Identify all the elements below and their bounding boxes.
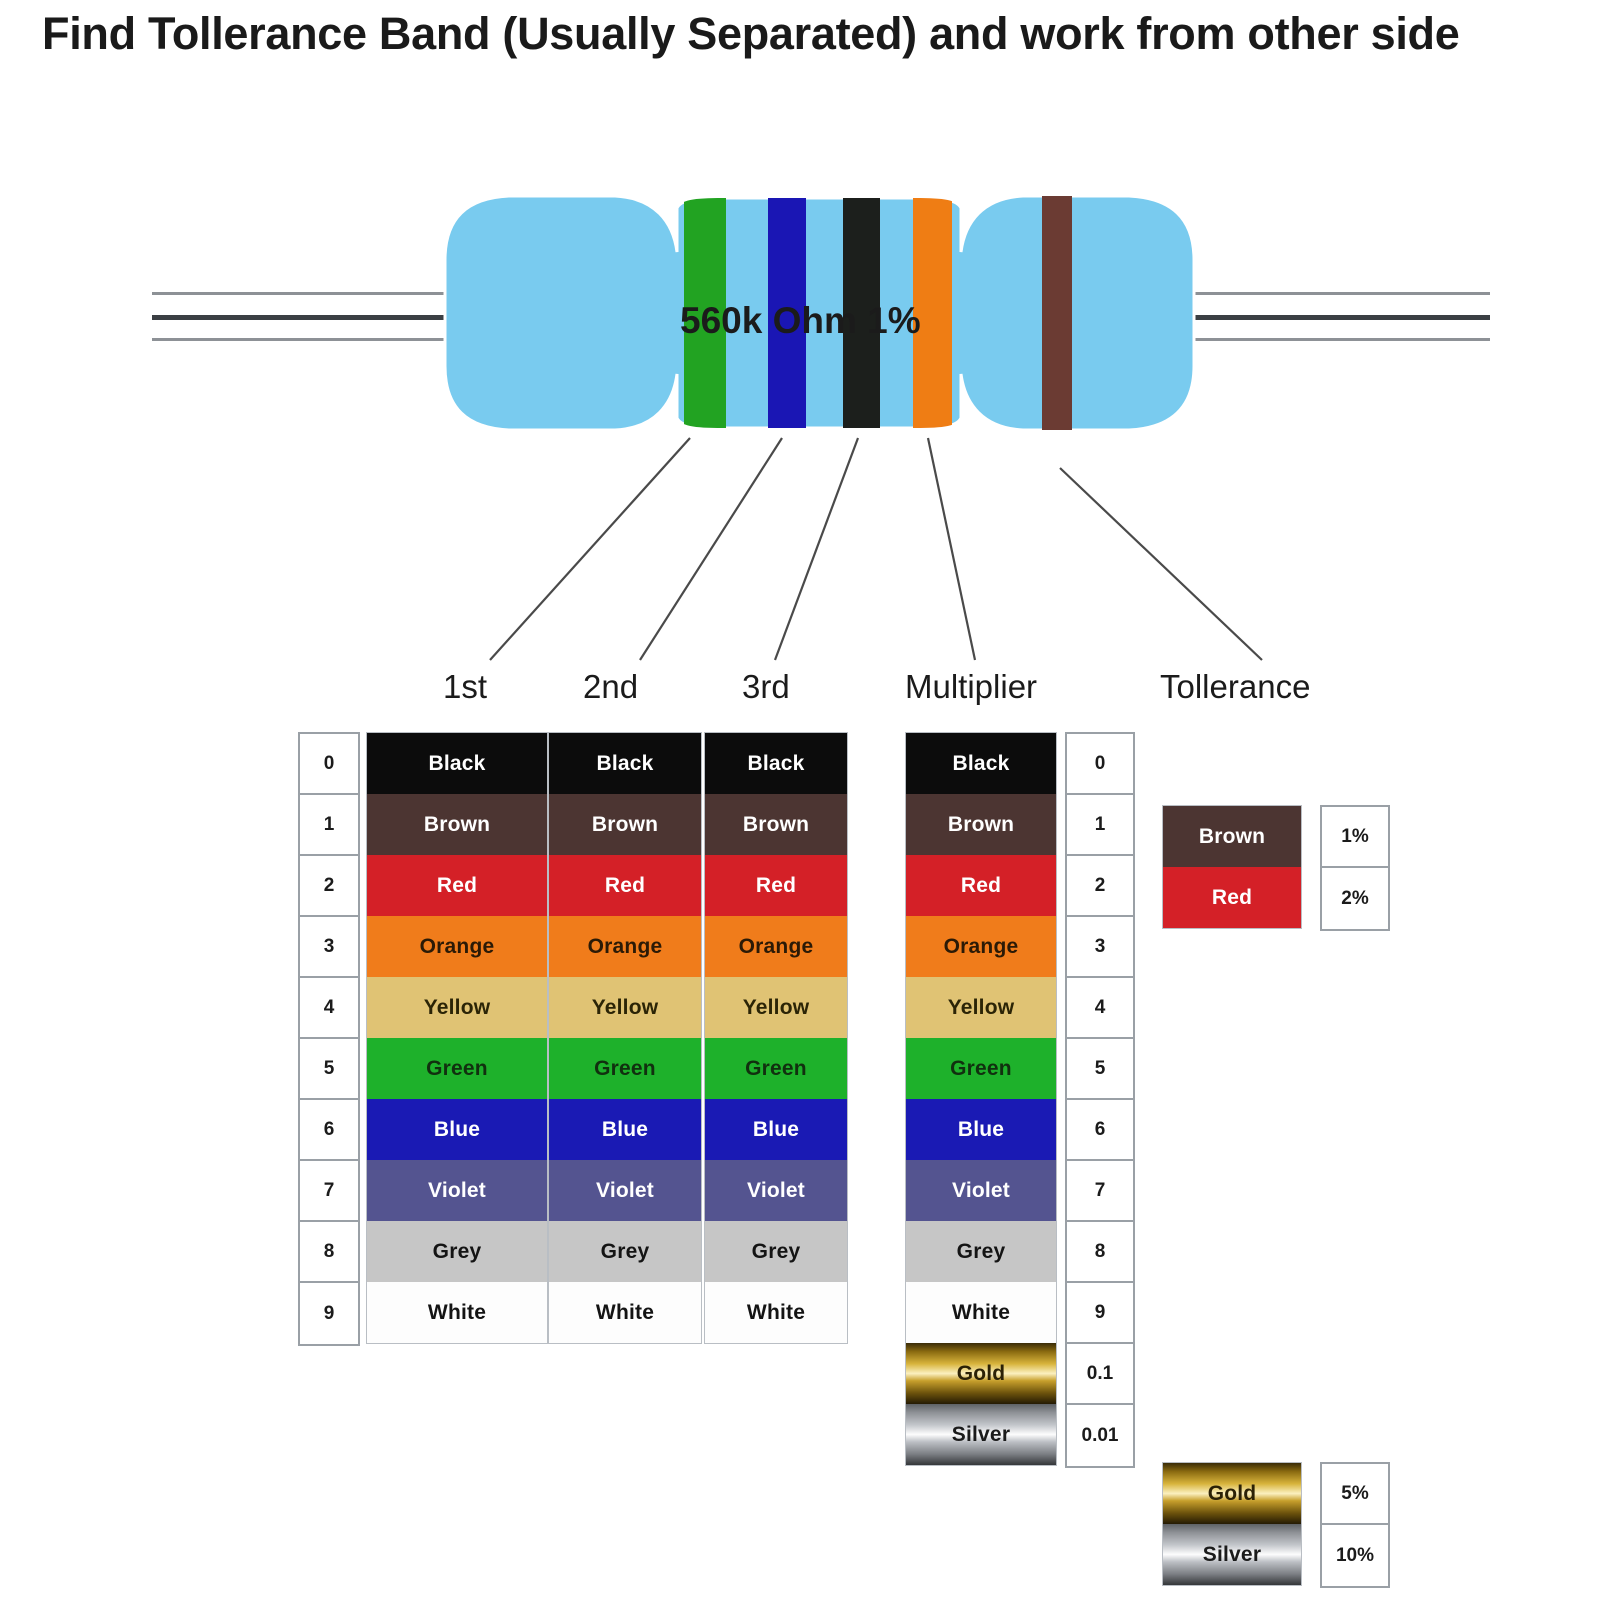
value-cell: 2 <box>1067 856 1133 917</box>
color-swatch-cell: Black <box>705 733 847 794</box>
color-swatch-cell: Violet <box>549 1160 701 1221</box>
value-cell: 1 <box>1067 795 1133 856</box>
color-swatch-cell: Silver <box>1163 1524 1301 1585</box>
color-swatch-cell: Orange <box>367 916 547 977</box>
value-cell: 1% <box>1322 807 1388 868</box>
color-swatch-cell: Brown <box>1163 806 1301 867</box>
value-cell: 0 <box>300 734 358 795</box>
color-swatch-cell: Green <box>549 1038 701 1099</box>
color-swatch-cell: Blue <box>367 1099 547 1160</box>
value-cell: 7 <box>300 1161 358 1222</box>
color-swatch-cell: White <box>549 1282 701 1343</box>
color-swatch-cell: Orange <box>549 916 701 977</box>
digit-column-right: 01234567890.10.01 <box>1065 732 1135 1468</box>
color-swatch-cell: Gold <box>906 1343 1056 1404</box>
color-swatch-cell: Gold <box>1163 1463 1301 1524</box>
tolerance-percent-column-top: 1%2% <box>1320 805 1390 931</box>
color-swatch-cell: Orange <box>705 916 847 977</box>
color-swatch-cell: Red <box>705 855 847 916</box>
leader-line-multiplier <box>928 438 975 660</box>
color-swatch-cell: Black <box>367 733 547 794</box>
color-column-1st: BlackBrownRedOrangeYellowGreenBlueViolet… <box>366 732 548 1344</box>
color-swatch-cell: Yellow <box>549 977 701 1038</box>
column-label-2nd: 2nd <box>583 668 638 706</box>
value-cell: 5 <box>300 1039 358 1100</box>
column-label-3rd: 3rd <box>742 668 790 706</box>
value-cell: 4 <box>300 978 358 1039</box>
color-column-3rd: BlackBrownRedOrangeYellowGreenBlueViolet… <box>704 732 848 1344</box>
color-swatch-cell: Brown <box>367 794 547 855</box>
color-swatch-cell: Blue <box>549 1099 701 1160</box>
value-cell: 10% <box>1322 1525 1388 1586</box>
value-cell: 0.1 <box>1067 1344 1133 1405</box>
color-swatch-cell: Green <box>367 1038 547 1099</box>
value-cell: 0 <box>1067 734 1133 795</box>
value-cell: 5% <box>1322 1464 1388 1525</box>
color-swatch-cell: Red <box>1163 867 1301 928</box>
tolerance-percent-column-bottom: 5%10% <box>1320 1462 1390 1588</box>
tolerance-color-column-bottom: GoldSilver <box>1162 1462 1302 1586</box>
color-swatch-cell: Brown <box>549 794 701 855</box>
color-swatch-cell: Violet <box>906 1160 1056 1221</box>
color-swatch-cell: Black <box>906 733 1056 794</box>
color-swatch-cell: Blue <box>705 1099 847 1160</box>
column-label-multiplier: Multiplier <box>905 668 1037 706</box>
color-swatch-cell: White <box>367 1282 547 1343</box>
color-swatch-cell: Blue <box>906 1099 1056 1160</box>
value-cell: 7 <box>1067 1161 1133 1222</box>
value-cell: 1 <box>300 795 358 856</box>
color-swatch-cell: Silver <box>906 1404 1056 1465</box>
color-swatch-cell: Red <box>549 855 701 916</box>
value-cell: 3 <box>1067 917 1133 978</box>
color-swatch-cell: Grey <box>367 1221 547 1282</box>
color-swatch-cell: White <box>906 1282 1056 1343</box>
color-swatch-cell: Green <box>906 1038 1056 1099</box>
column-label-tollerance: Tollerance <box>1160 668 1310 706</box>
color-swatch-cell: Yellow <box>906 977 1056 1038</box>
digit-column-left: 0123456789 <box>298 732 360 1346</box>
value-cell: 4 <box>1067 978 1133 1039</box>
value-cell: 5 <box>1067 1039 1133 1100</box>
value-cell: 0.01 <box>1067 1405 1133 1466</box>
value-cell: 9 <box>1067 1283 1133 1344</box>
color-swatch-cell: Grey <box>705 1221 847 1282</box>
color-swatch-cell: Red <box>367 855 547 916</box>
tolerance-color-column-top: BrownRed <box>1162 805 1302 929</box>
value-cell: 9 <box>300 1283 358 1344</box>
color-swatch-cell: White <box>705 1282 847 1343</box>
leader-line-tollerance <box>1060 468 1262 660</box>
color-swatch-cell: Red <box>906 855 1056 916</box>
color-swatch-cell: Violet <box>705 1160 847 1221</box>
color-swatch-cell: Grey <box>906 1221 1056 1282</box>
leader-line-3rd <box>775 438 858 660</box>
color-swatch-cell: Green <box>705 1038 847 1099</box>
color-swatch-cell: Orange <box>906 916 1056 977</box>
value-cell: 8 <box>300 1222 358 1283</box>
color-swatch-cell: Violet <box>367 1160 547 1221</box>
color-swatch-cell: Black <box>549 733 701 794</box>
color-column-multiplier: BlackBrownRedOrangeYellowGreenBlueViolet… <box>905 732 1057 1466</box>
value-cell: 2% <box>1322 868 1388 929</box>
column-label-1st: 1st <box>443 668 487 706</box>
color-swatch-cell: Yellow <box>705 977 847 1038</box>
value-cell: 2 <box>300 856 358 917</box>
color-column-2nd: BlackBrownRedOrangeYellowGreenBlueViolet… <box>548 732 702 1344</box>
value-cell: 6 <box>300 1100 358 1161</box>
color-swatch-cell: Brown <box>906 794 1056 855</box>
value-cell: 6 <box>1067 1100 1133 1161</box>
value-cell: 3 <box>300 917 358 978</box>
color-swatch-cell: Yellow <box>367 977 547 1038</box>
color-swatch-cell: Brown <box>705 794 847 855</box>
color-swatch-cell: Grey <box>549 1221 701 1282</box>
value-cell: 8 <box>1067 1222 1133 1283</box>
